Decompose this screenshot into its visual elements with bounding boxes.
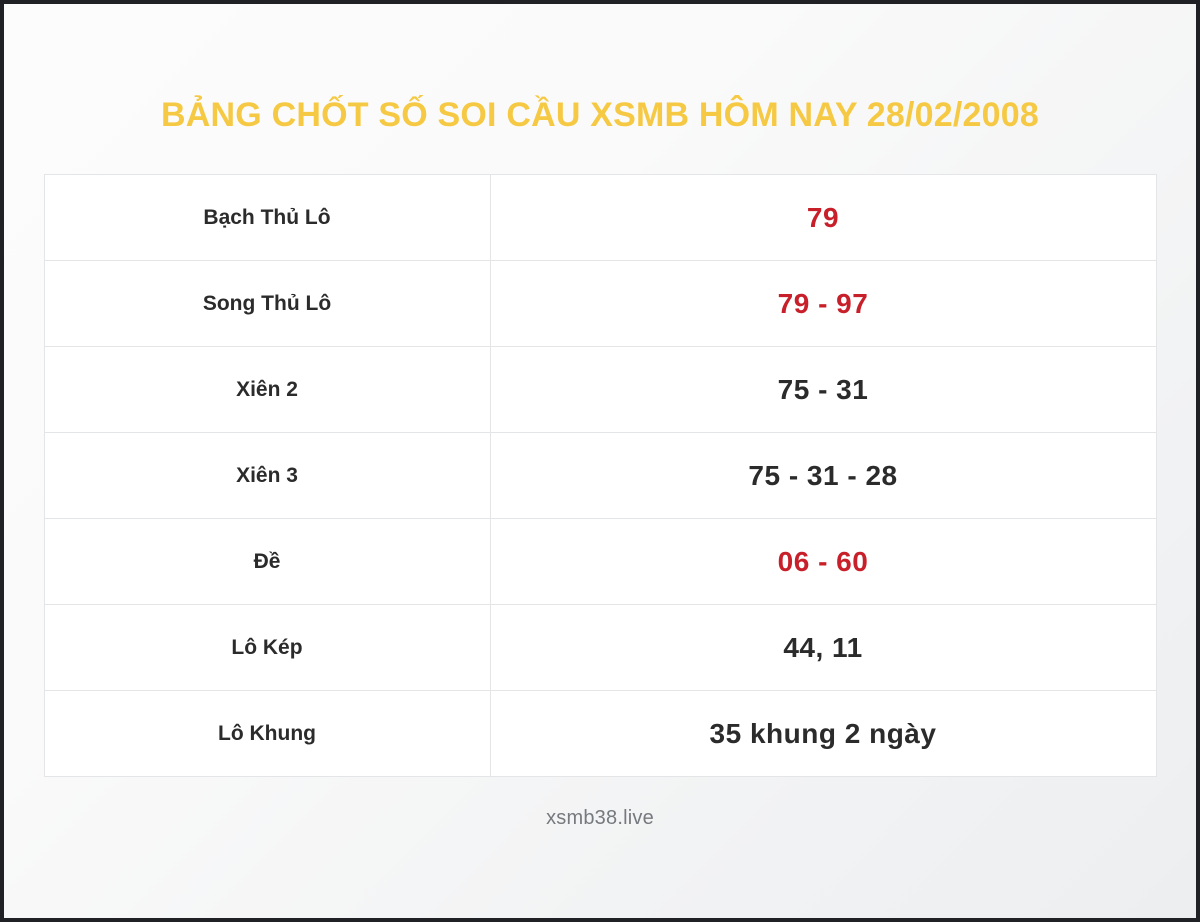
row-value: 44, 11 <box>491 605 1156 690</box>
table-row: Lô Kép 44, 11 <box>45 605 1156 691</box>
row-value: 06 - 60 <box>491 519 1156 604</box>
row-label: Xiên 3 <box>45 433 491 518</box>
row-value: 79 - 97 <box>491 261 1156 346</box>
page-title: BẢNG CHỐT SỐ SOI CẦU XSMB HÔM NAY 28/02/… <box>161 96 1039 135</box>
row-value: 75 - 31 - 28 <box>491 433 1156 518</box>
table-row: Bạch Thủ Lô 79 <box>45 175 1156 261</box>
table-row: Song Thủ Lô 79 - 97 <box>45 261 1156 347</box>
table-row: Lô Khung 35 khung 2 ngày <box>45 691 1156 777</box>
row-value: 75 - 31 <box>491 347 1156 432</box>
row-value: 79 <box>491 175 1156 260</box>
table-row: Đề 06 - 60 <box>45 519 1156 605</box>
page-canvas: BẢNG CHỐT SỐ SOI CẦU XSMB HÔM NAY 28/02/… <box>4 4 1196 918</box>
row-label: Lô Khung <box>45 691 491 776</box>
prediction-table: Bạch Thủ Lô 79 Song Thủ Lô 79 - 97 Xiên … <box>44 174 1157 777</box>
row-label: Bạch Thủ Lô <box>45 175 491 260</box>
row-label: Đề <box>45 519 491 604</box>
site-watermark: xsmb38.live <box>546 807 654 830</box>
row-label: Xiên 2 <box>45 347 491 432</box>
row-label: Lô Kép <box>45 605 491 690</box>
table-row: Xiên 2 75 - 31 <box>45 347 1156 433</box>
row-value: 35 khung 2 ngày <box>491 691 1156 776</box>
table-row: Xiên 3 75 - 31 - 28 <box>45 433 1156 519</box>
row-label: Song Thủ Lô <box>45 261 491 346</box>
